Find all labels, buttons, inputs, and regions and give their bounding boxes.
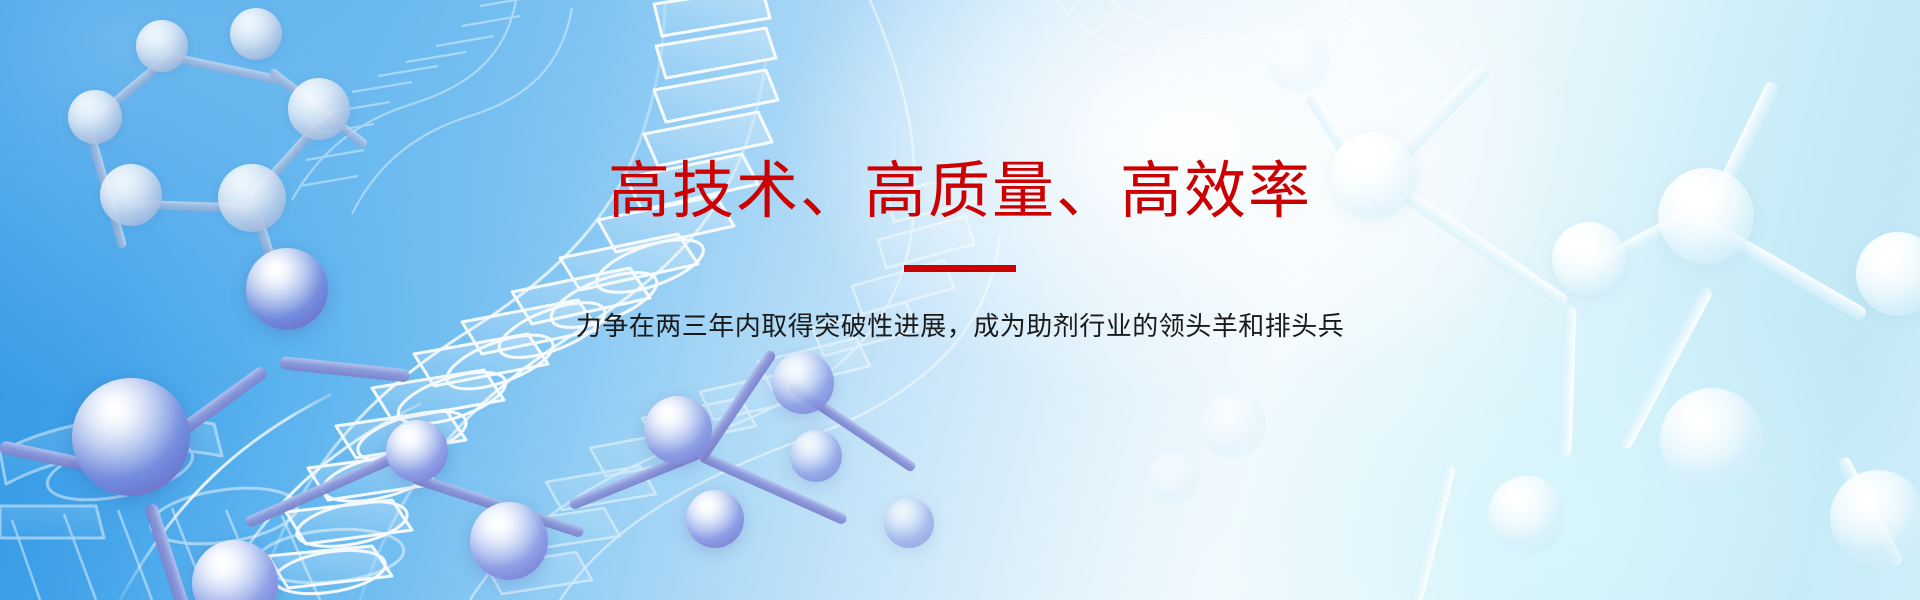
hero-banner: 高技术、高质量、高效率 力争在两三年内取得突破性进展，成为助剂行业的领头羊和排头…: [0, 0, 1920, 600]
banner-text-stack: 高技术、高质量、高效率 力争在两三年内取得突破性进展，成为助剂行业的领头羊和排头…: [0, 0, 1920, 600]
banner-title: 高技术、高质量、高效率: [608, 160, 1312, 222]
title-divider: [904, 265, 1016, 272]
banner-subtitle: 力争在两三年内取得突破性进展，成为助剂行业的领头羊和排头兵: [576, 314, 1345, 340]
